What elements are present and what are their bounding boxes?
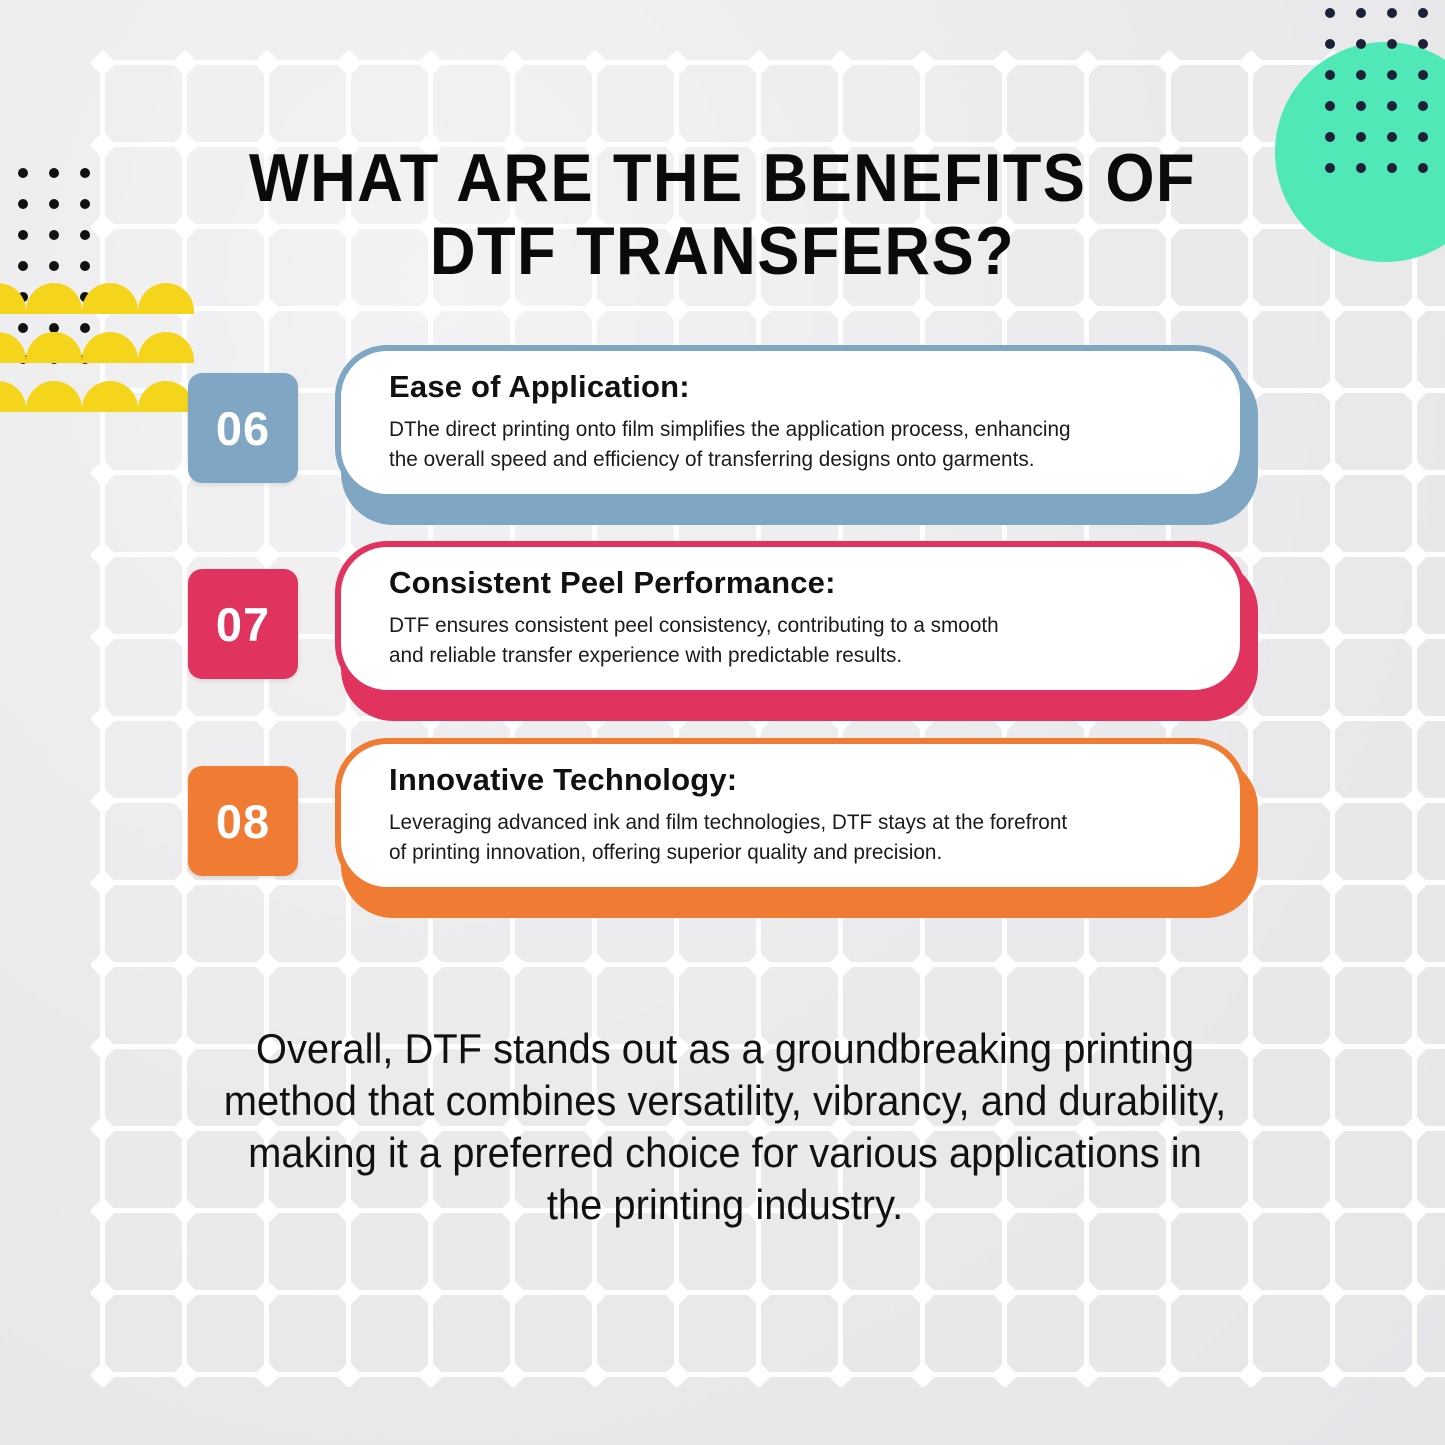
card-title: Ease of Application: [389,370,1206,404]
benefit-card[interactable]: 08Innovative Technology:Leveraging advan… [188,738,1258,918]
card-number-badge: 06 [188,373,298,483]
card-bubble[interactable]: Innovative Technology:Leveraging advance… [335,738,1246,893]
card-number-badge: 08 [188,766,298,876]
card-bubble[interactable]: Ease of Application:DThe direct printing… [335,345,1246,500]
card-title: Consistent Peel Performance: [389,566,1206,600]
card-number: 06 [216,401,270,456]
benefit-card[interactable]: 06Ease of Application:DThe direct printi… [188,345,1258,525]
card-body: DThe direct printing onto film simplifie… [389,414,1177,474]
card-body: Leveraging advanced ink and film technol… [389,807,1177,867]
card-bubble-wrap: Consistent Peel Performance:DTF ensures … [335,541,1258,721]
infographic-poster: WHAT ARE THE BENEFITS OF DTF TRANSFERS? … [0,0,1445,1445]
benefit-card[interactable]: 07Consistent Peel Performance:DTF ensure… [188,541,1258,721]
page-title: WHAT ARE THE BENEFITS OF DTF TRANSFERS? [209,142,1237,288]
card-body: DTF ensures consistent peel consistency,… [389,610,1177,670]
card-bubble[interactable]: Consistent Peel Performance:DTF ensures … [335,541,1246,696]
card-bubble-wrap: Ease of Application:DThe direct printing… [335,345,1258,525]
card-number: 08 [216,794,270,849]
card-number: 07 [216,597,270,652]
closing-paragraph: Overall, DTF stands out as a groundbreak… [203,1023,1248,1231]
card-bubble-wrap: Innovative Technology:Leveraging advance… [335,738,1258,918]
card-number-badge: 07 [188,569,298,679]
card-title: Innovative Technology: [389,763,1206,797]
